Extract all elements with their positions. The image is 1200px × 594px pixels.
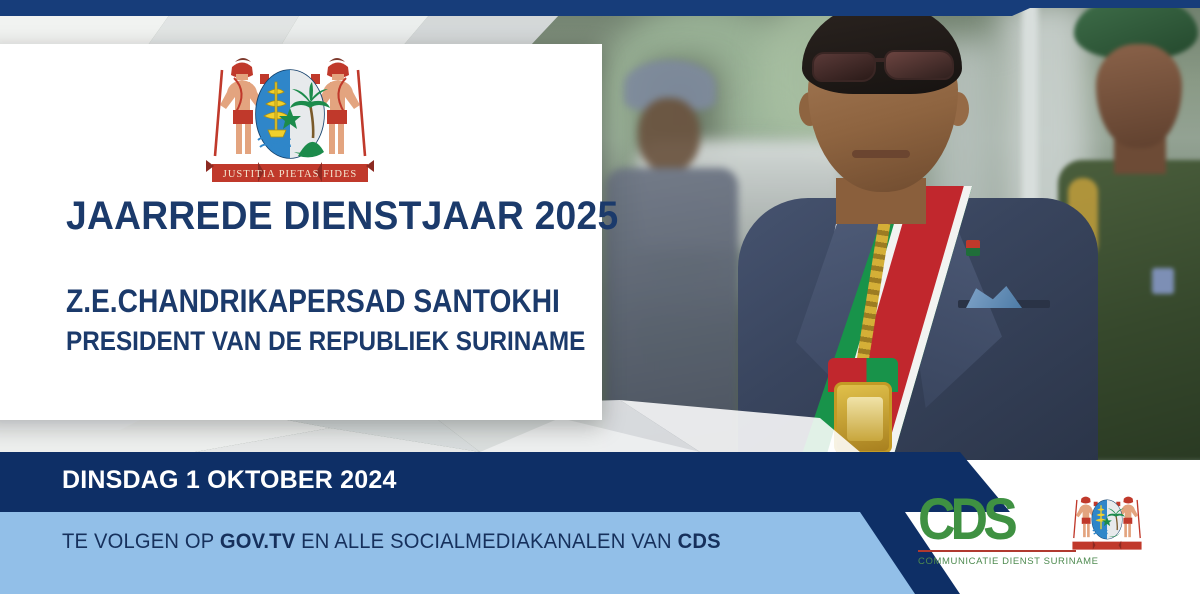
follow-org: CDS bbox=[678, 530, 721, 553]
crest-motto: JUSTITIA PIETAS FIDES bbox=[223, 169, 358, 180]
title-text-block: JAARREDE DIENSTJAAR 2025 Z.E.CHANDRIKAPE… bbox=[66, 194, 582, 357]
title-card: JUSTITIA PIETAS FIDES JAARREDE DIENSTJAA… bbox=[0, 44, 602, 420]
follow-instructions: TE VOLGEN OP GOV.TV EN ALLE SOCIALMEDIAK… bbox=[62, 530, 721, 554]
top-strip-svg bbox=[0, 0, 1200, 16]
president-name: Z.E.CHANDRIKAPERSAD SANTOKHI bbox=[66, 283, 520, 320]
officer-medal-ribbon bbox=[1152, 268, 1174, 294]
sash-medallion bbox=[834, 382, 892, 454]
presidential-sash bbox=[800, 186, 1010, 460]
follow-middle: EN ALLE SOCIALMEDIAKANALEN VAN bbox=[295, 530, 677, 553]
sash-band bbox=[800, 186, 1010, 460]
event-date: DINSDAG 1 OKTOBER 2024 bbox=[62, 466, 397, 495]
follow-prefix: TE VOLGEN OP bbox=[62, 530, 220, 553]
background-figure-face bbox=[638, 98, 700, 172]
top-accent-strip bbox=[0, 0, 1200, 14]
sunglasses-lens-right bbox=[884, 50, 954, 80]
crest-container: JUSTITIA PIETAS FIDES bbox=[0, 52, 602, 192]
president-mouth bbox=[852, 150, 910, 158]
cds-logo: CDS COMMUNICATIE DIENST SURINAME bbox=[918, 492, 1088, 558]
cds-tagline: COMMUNICATIE DIENST SURINAME bbox=[918, 556, 1088, 567]
president-sunglasses bbox=[804, 50, 964, 84]
coat-of-arms-of-suriname-icon: JUSTITIA PIETAS FIDES bbox=[202, 52, 378, 192]
cds-divider-rule bbox=[918, 550, 1076, 552]
president-role: PRESIDENT VAN DE REPUBLIEK SURINAME bbox=[66, 326, 530, 357]
sunglasses-lens-left bbox=[812, 52, 876, 82]
cds-crest-svg bbox=[1068, 487, 1146, 559]
president-figure bbox=[700, 0, 1130, 460]
banner-root: President Chandrikapersad Santokhi in da… bbox=[0, 0, 1200, 594]
cds-coat-of-arms-icon bbox=[1068, 487, 1146, 559]
follow-channel[interactable]: GOV.TV bbox=[220, 530, 295, 553]
page-title: JAARREDE DIENSTJAAR 2025 bbox=[66, 194, 546, 239]
cds-wordmark: CDS bbox=[918, 492, 1088, 548]
